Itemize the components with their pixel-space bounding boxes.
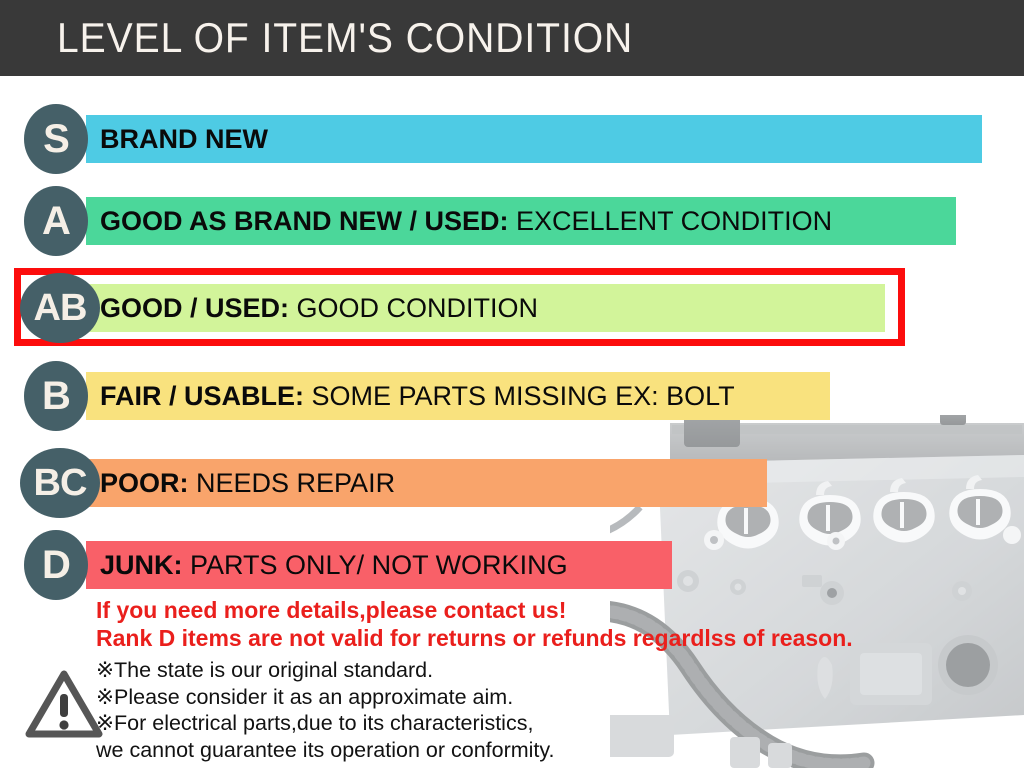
- rank-bar-a: GOOD AS BRAND NEW / USED: EXCELLENT COND…: [86, 197, 956, 245]
- rank-light-text-b: SOME PARTS MISSING EX: BOLT: [304, 381, 735, 411]
- rank-bold-text-ab: GOOD / USED:: [100, 293, 289, 323]
- rank-bar-b: FAIR / USABLE: SOME PARTS MISSING EX: BO…: [86, 372, 830, 420]
- rank-label-bc: POOR: NEEDS REPAIR: [100, 468, 395, 498]
- rank-light-text-ab: GOOD CONDITION: [289, 293, 538, 323]
- footnotes-block: ※The state is our original standard. ※Pl…: [96, 657, 555, 763]
- rank-badge-letter-a: A: [42, 199, 70, 244]
- rank-badge-b: B: [24, 361, 88, 431]
- rank-badge-a: A: [24, 186, 88, 256]
- rank-bold-text-a: GOOD AS BRAND NEW / USED:: [100, 206, 509, 236]
- rank-light-text-bc: NEEDS REPAIR: [189, 468, 396, 498]
- rank-label-d: JUNK: PARTS ONLY/ NOT WORKING: [100, 550, 568, 580]
- rank-bar-s: BRAND NEW: [86, 115, 982, 163]
- rank-light-text-d: PARTS ONLY/ NOT WORKING: [183, 550, 568, 580]
- rank-label-ab: GOOD / USED: GOOD CONDITION: [100, 293, 538, 323]
- rank-badge-letter-b: B: [42, 374, 70, 419]
- notice-rank-d-no-returns: Rank D items are not valid for returns o…: [96, 625, 853, 652]
- rank-badge-letter-bc: BC: [34, 462, 87, 505]
- rank-light-text-a: EXCELLENT CONDITION: [509, 206, 833, 236]
- notice-contact-us: If you need more details,please contact …: [96, 597, 566, 624]
- page-title: LEVEL OF ITEM'S CONDITION: [57, 13, 633, 63]
- rank-bold-text-bc: POOR:: [100, 468, 189, 498]
- footnote-line-2: ※Please consider it as an approximate ai…: [96, 684, 555, 711]
- footnote-line-4: we cannot guarantee its operation or con…: [96, 737, 555, 764]
- rank-badge-bc: BC: [20, 448, 100, 518]
- rank-bar-ab: GOOD / USED: GOOD CONDITION: [86, 284, 885, 332]
- rank-bold-text-s: BRAND NEW: [100, 124, 268, 154]
- rank-bar-bc: POOR: NEEDS REPAIR: [86, 459, 767, 507]
- rank-label-a: GOOD AS BRAND NEW / USED: EXCELLENT COND…: [100, 206, 832, 236]
- rank-label-s: BRAND NEW: [100, 124, 268, 154]
- footnote-line-3: ※For electrical parts,due to its charact…: [96, 710, 555, 737]
- rank-badge-letter-ab: AB: [34, 287, 87, 330]
- warning-triangle-icon: [25, 668, 103, 740]
- rank-label-b: FAIR / USABLE: SOME PARTS MISSING EX: BO…: [100, 381, 735, 411]
- rank-badge-ab: AB: [20, 273, 100, 343]
- condition-level-infographic: LEVEL OF ITEM'S CONDITION BRAND NEW S GO…: [0, 0, 1024, 768]
- rank-badge-letter-s: S: [43, 117, 69, 162]
- rank-badge-s: S: [24, 104, 88, 174]
- rank-bold-text-d: JUNK:: [100, 550, 183, 580]
- rank-bar-d: JUNK: PARTS ONLY/ NOT WORKING: [86, 541, 672, 589]
- rank-badge-d: D: [24, 530, 88, 600]
- rank-badge-letter-d: D: [42, 543, 70, 588]
- rank-bold-text-b: FAIR / USABLE:: [100, 381, 304, 411]
- footnote-line-1: ※The state is our original standard.: [96, 657, 555, 684]
